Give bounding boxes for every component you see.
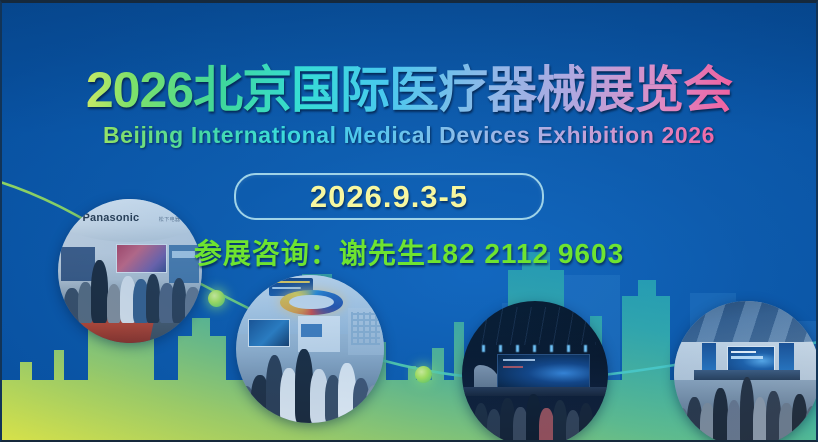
- page-title-chinese: 2026北京国际医疗器械展览会: [2, 61, 816, 119]
- crowd-figures: [462, 386, 608, 442]
- crowd-figures: [674, 371, 818, 442]
- photo-circle-auditorium-stage: [462, 301, 608, 442]
- connector-node-dot: [415, 366, 432, 383]
- photo-circle-conference-audience: [674, 301, 818, 442]
- crowd-figures: [236, 346, 384, 423]
- contact-line: 参展咨询：谢先生182 2112 9603: [2, 232, 816, 272]
- booth-brand-label: Panasonic: [82, 212, 139, 224]
- page-title-english: Beijing International Medical Devices Ex…: [2, 121, 816, 149]
- date-badge-label: 2026.9.3-5: [310, 179, 468, 215]
- date-badge: 2026.9.3-5: [234, 173, 544, 220]
- photo-circle-ring-light-hall: [236, 275, 384, 423]
- exhibition-poster: Panasonic 松下电器: [0, 0, 818, 442]
- booth-brand-sublabel: 松下电器: [159, 216, 181, 223]
- connector-node-dot: [208, 290, 225, 307]
